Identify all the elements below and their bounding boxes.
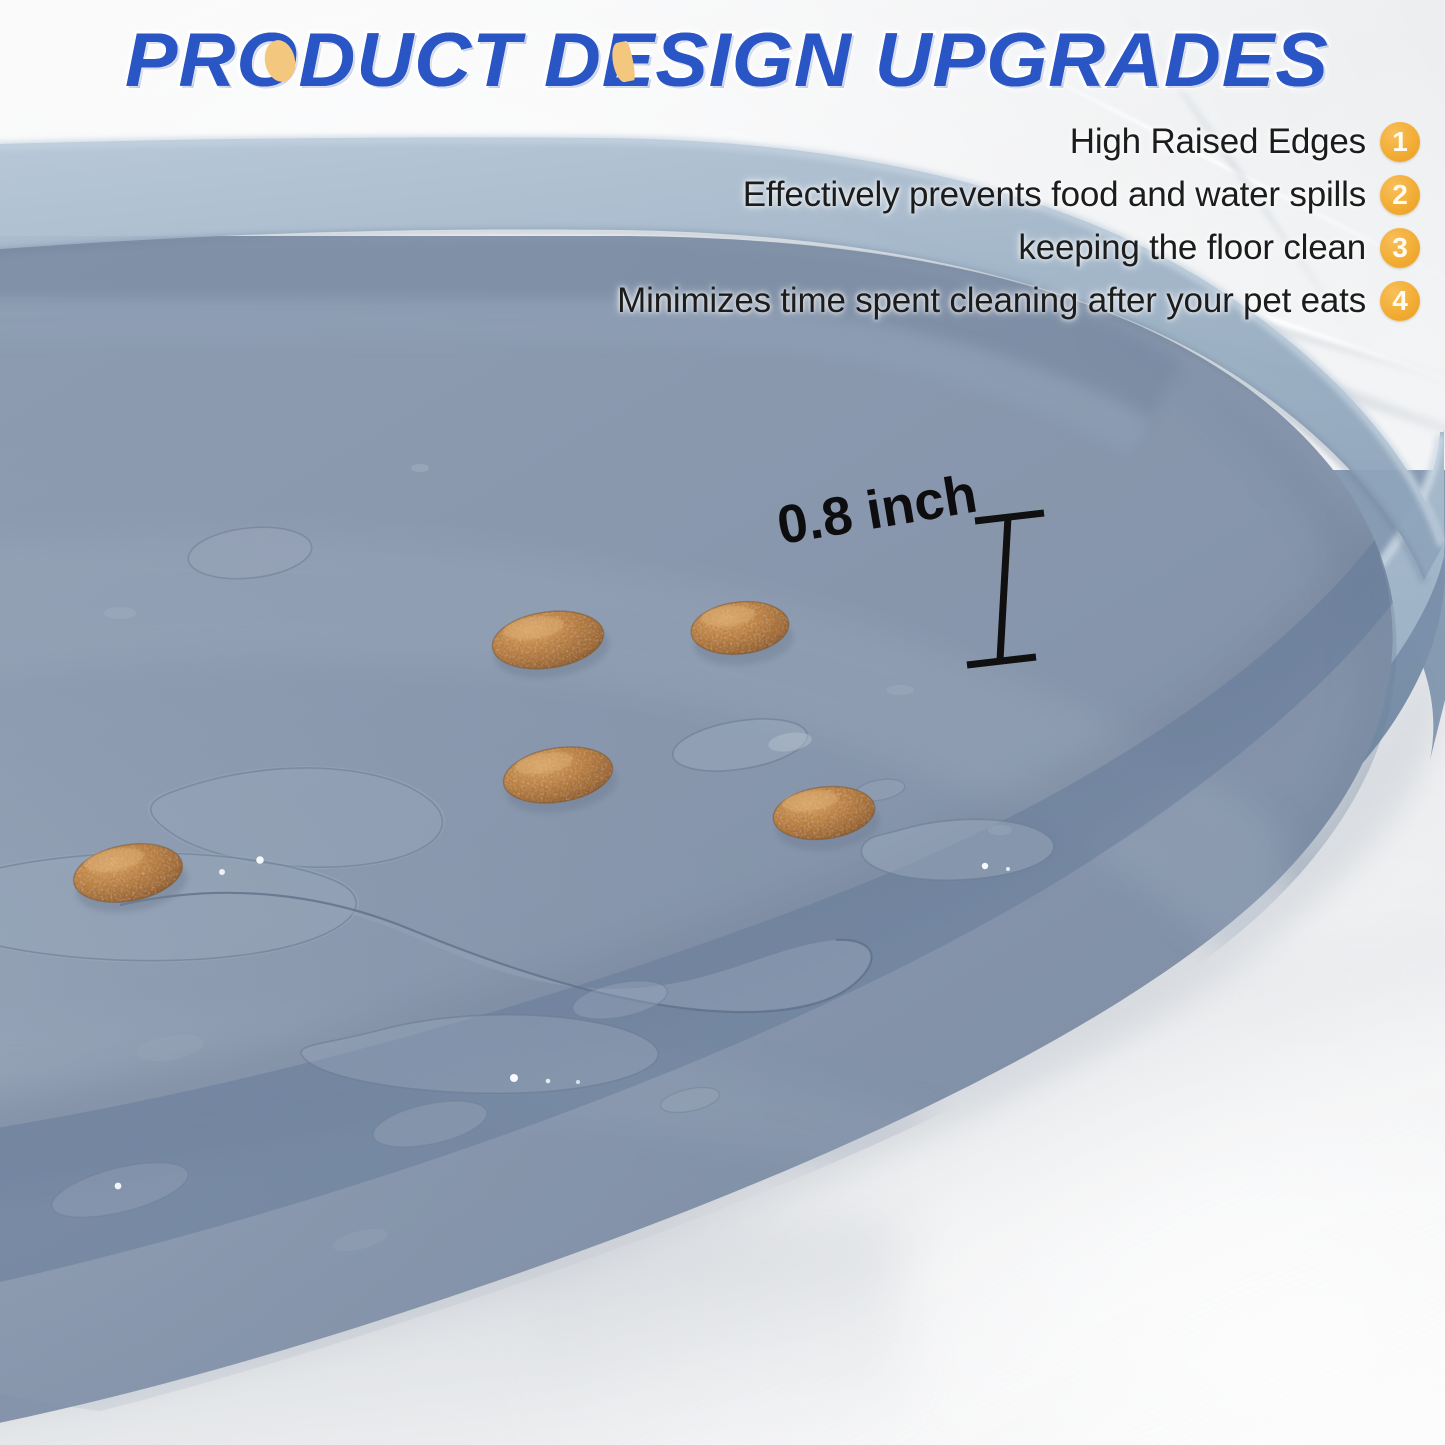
feature-item: keeping the floor clean 3 — [300, 222, 1420, 274]
floor-shadow — [0, 1220, 900, 1445]
feature-label: Minimizes time spent cleaning after your… — [617, 281, 1366, 321]
feature-label: keeping the floor clean — [1018, 228, 1366, 268]
feature-label: High Raised Edges — [1070, 122, 1366, 162]
headline-title: PRODUCT DESIGN UPGRADES — [125, 18, 1445, 104]
feature-item: High Raised Edges 1 — [300, 116, 1420, 168]
feature-number-badge: 4 — [1380, 281, 1420, 321]
product-marketing-image: PRODUCT DESIGN UPGRADES PRODUCT DESIGN U… — [0, 0, 1445, 1445]
feature-list: High Raised Edges 1 Effectively prevents… — [300, 116, 1420, 328]
feature-item: Effectively prevents food and water spil… — [300, 169, 1420, 221]
feature-number-badge: 3 — [1380, 228, 1420, 268]
feature-number-badge: 1 — [1380, 122, 1420, 162]
feature-item: Minimizes time spent cleaning after your… — [300, 275, 1420, 327]
feature-number-badge: 2 — [1380, 175, 1420, 215]
feature-label: Effectively prevents food and water spil… — [743, 175, 1366, 215]
